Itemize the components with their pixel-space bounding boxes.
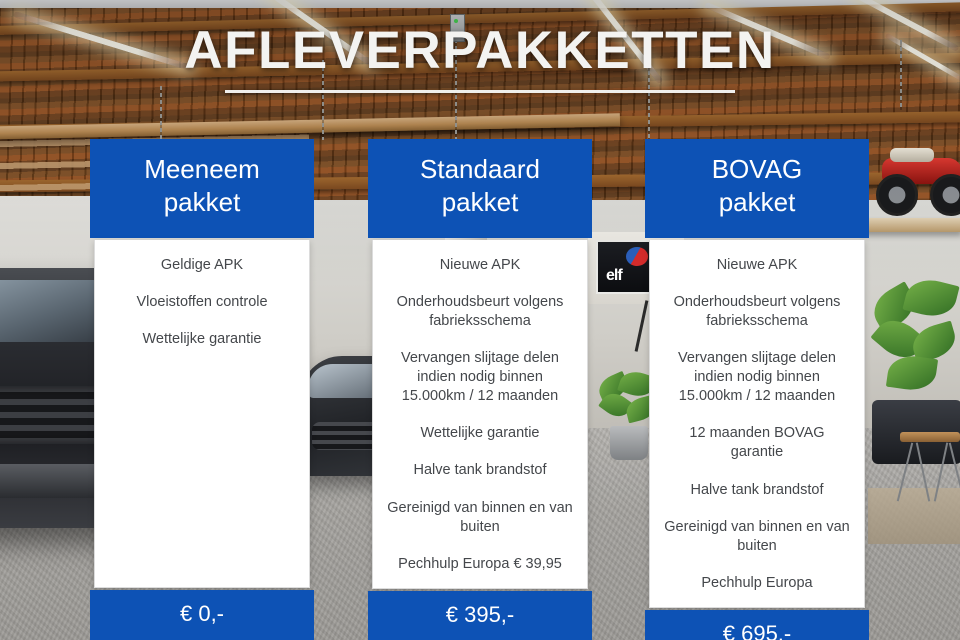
list-item: Vervangen slijtage delen indien nodig bi… xyxy=(662,349,852,406)
list-item: Vervangen slijtage delen indien nodig bi… xyxy=(385,349,575,406)
list-item: Pechhulp Europa xyxy=(662,574,852,593)
package-name-line2: pakket xyxy=(98,186,306,219)
package-name-line2: pakket xyxy=(653,186,861,219)
list-item: Gereinigd van binnen en van buiten xyxy=(662,518,852,556)
package-card-meeneem[interactable]: Meeneem pakket Geldige APK Vloeistoffen … xyxy=(90,139,314,640)
package-name-line1: BOVAG xyxy=(653,153,861,186)
list-item: Gereinigd van binnen en van buiten xyxy=(385,499,575,537)
package-name-line2: pakket xyxy=(376,186,584,219)
list-item: Geldige APK xyxy=(107,256,297,275)
list-item: Onderhoudsbeurt volgens fabrieksschema xyxy=(662,293,852,331)
list-item: 12 maanden BOVAG garantie xyxy=(662,424,852,462)
list-item: Halve tank brandstof xyxy=(662,481,852,500)
list-item: Nieuwe APK xyxy=(385,256,575,275)
list-item: Halve tank brandstof xyxy=(385,461,575,480)
package-feature-list: Geldige APK Vloeistoffen controle Wettel… xyxy=(94,240,310,588)
pricing-poster: elf xyxy=(0,0,960,640)
package-feature-list: Nieuwe APK Onderhoudsbeurt volgens fabri… xyxy=(372,240,588,589)
title-underline xyxy=(225,90,735,93)
list-item: Nieuwe APK xyxy=(662,256,852,275)
package-card-bovag[interactable]: BOVAG pakket Nieuwe APK Onderhoudsbeurt … xyxy=(645,139,869,640)
package-price: € 695,- xyxy=(645,610,869,640)
package-cards: Meeneem pakket Geldige APK Vloeistoffen … xyxy=(0,139,960,640)
hanging-chain xyxy=(160,86,162,144)
list-item: Wettelijke garantie xyxy=(107,330,297,349)
list-item: Wettelijke garantie xyxy=(385,424,575,443)
package-card-header: Standaard pakket xyxy=(368,139,592,238)
package-feature-list: Nieuwe APK Onderhoudsbeurt volgens fabri… xyxy=(649,240,865,609)
package-card-standaard[interactable]: Standaard pakket Nieuwe APK Onderhoudsbe… xyxy=(368,139,592,640)
list-item: Onderhoudsbeurt volgens fabrieksschema xyxy=(385,293,575,331)
list-item: Vloeistoffen controle xyxy=(107,293,297,312)
package-price: € 0,- xyxy=(90,590,314,640)
package-name-line1: Meeneem xyxy=(98,153,306,186)
package-price: € 395,- xyxy=(368,591,592,640)
package-card-header: Meeneem pakket xyxy=(90,139,314,238)
page-title: AFLEVERPAKKETTEN xyxy=(0,20,960,81)
package-card-header: BOVAG pakket xyxy=(645,139,869,238)
package-name-line1: Standaard xyxy=(376,153,584,186)
list-item: Pechhulp Europa € 39,95 xyxy=(385,555,575,574)
